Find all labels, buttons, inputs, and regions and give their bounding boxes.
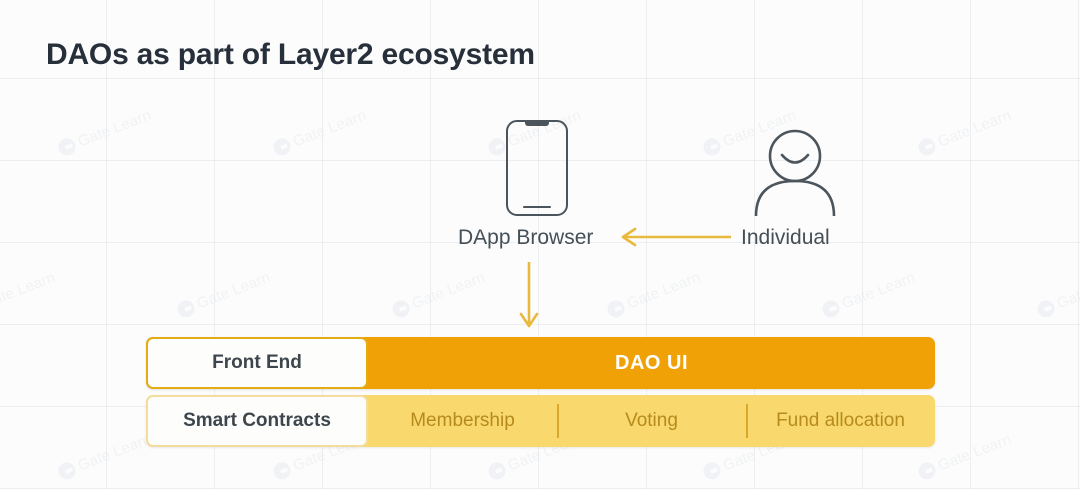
gate-logo-icon — [56, 136, 78, 158]
smartphone-home-indicator-icon — [523, 206, 551, 209]
page-title: DAOs as part of Layer2 ecosystem — [46, 38, 535, 72]
gate-logo-icon — [271, 136, 293, 158]
front-end-label[interactable]: Front End — [146, 337, 368, 389]
gate-logo-icon — [175, 298, 197, 320]
watermark-text: Gate Learn — [291, 107, 369, 150]
person-icon — [749, 128, 841, 216]
watermark-text: Gate Learn — [936, 107, 1014, 150]
gate-learn-watermark: Gate Learn — [390, 269, 488, 320]
watermark-text: Gate Learn — [840, 269, 918, 312]
gate-learn-watermark: Gate Learn — [916, 107, 1014, 158]
gate-learn-watermark: Gate Learn — [271, 107, 369, 158]
watermark-text: Gate Learn — [0, 269, 58, 312]
stack-row-smart-contracts: Smart Contracts Membership Voting Fund a… — [146, 395, 935, 447]
gate-logo-icon — [271, 460, 293, 482]
gate-logo-icon — [701, 136, 723, 158]
gate-logo-icon — [820, 298, 842, 320]
gate-logo-icon — [390, 298, 412, 320]
diagram-canvas: Gate LearnGate LearnGate LearnGate Learn… — [0, 0, 1080, 489]
watermark-text: Gate Learn — [410, 269, 488, 312]
gate-learn-watermark: Gate Learn — [605, 269, 703, 320]
gate-logo-icon — [1035, 298, 1057, 320]
person-icon-svg — [749, 128, 841, 216]
smartphone-icon — [506, 120, 568, 216]
gate-logo-icon — [486, 460, 508, 482]
segment-voting[interactable]: Voting — [557, 395, 746, 447]
watermark-text: Gate Learn — [936, 431, 1014, 474]
left-arrow-icon — [615, 224, 731, 250]
gate-learn-watermark: Gate Learn — [820, 269, 918, 320]
gate-logo-icon — [916, 136, 938, 158]
watermark-text: Gate Learn — [76, 107, 154, 150]
stack-row-front-end: Front End DAO UI — [146, 337, 935, 389]
smart-contracts-label[interactable]: Smart Contracts — [146, 395, 368, 447]
front-end-content: DAO UI — [368, 337, 935, 389]
gate-logo-icon — [701, 460, 723, 482]
layer-stack: Front End DAO UI Smart Contracts Members… — [146, 337, 935, 447]
segment-fund-allocation[interactable]: Fund allocation — [746, 395, 935, 447]
dapp-browser-label: DApp Browser — [458, 226, 593, 250]
watermark-text: Gate Learn — [625, 269, 703, 312]
gate-logo-icon — [605, 298, 627, 320]
gate-learn-watermark: Gate Learn — [0, 269, 58, 320]
gate-learn-watermark: Gate Learn — [175, 269, 273, 320]
smartphone-body — [506, 120, 568, 216]
segment-membership[interactable]: Membership — [368, 395, 557, 447]
arrow-dapp-browser-to-stack — [516, 262, 542, 332]
gate-learn-watermark: Gate Learn — [56, 431, 154, 482]
watermark-text: Gate Learn — [76, 431, 154, 474]
smart-contracts-segments: Membership Voting Fund allocation — [368, 395, 935, 447]
arrow-individual-to-dapp-browser — [615, 224, 731, 250]
gate-logo-icon — [486, 136, 508, 158]
gate-logo-icon — [916, 460, 938, 482]
gate-learn-watermark: Gate Learn — [56, 107, 154, 158]
watermark-text: Gate Learn — [195, 269, 273, 312]
down-arrow-icon — [516, 262, 542, 332]
gate-logo-icon — [56, 460, 78, 482]
gate-learn-watermark: Gate Learn — [1035, 269, 1080, 320]
watermark-text: Gate Learn — [1055, 269, 1080, 312]
smartphone-notch-icon — [525, 122, 549, 126]
dao-ui-label[interactable]: DAO UI — [615, 352, 688, 375]
individual-label: Individual — [741, 226, 830, 250]
